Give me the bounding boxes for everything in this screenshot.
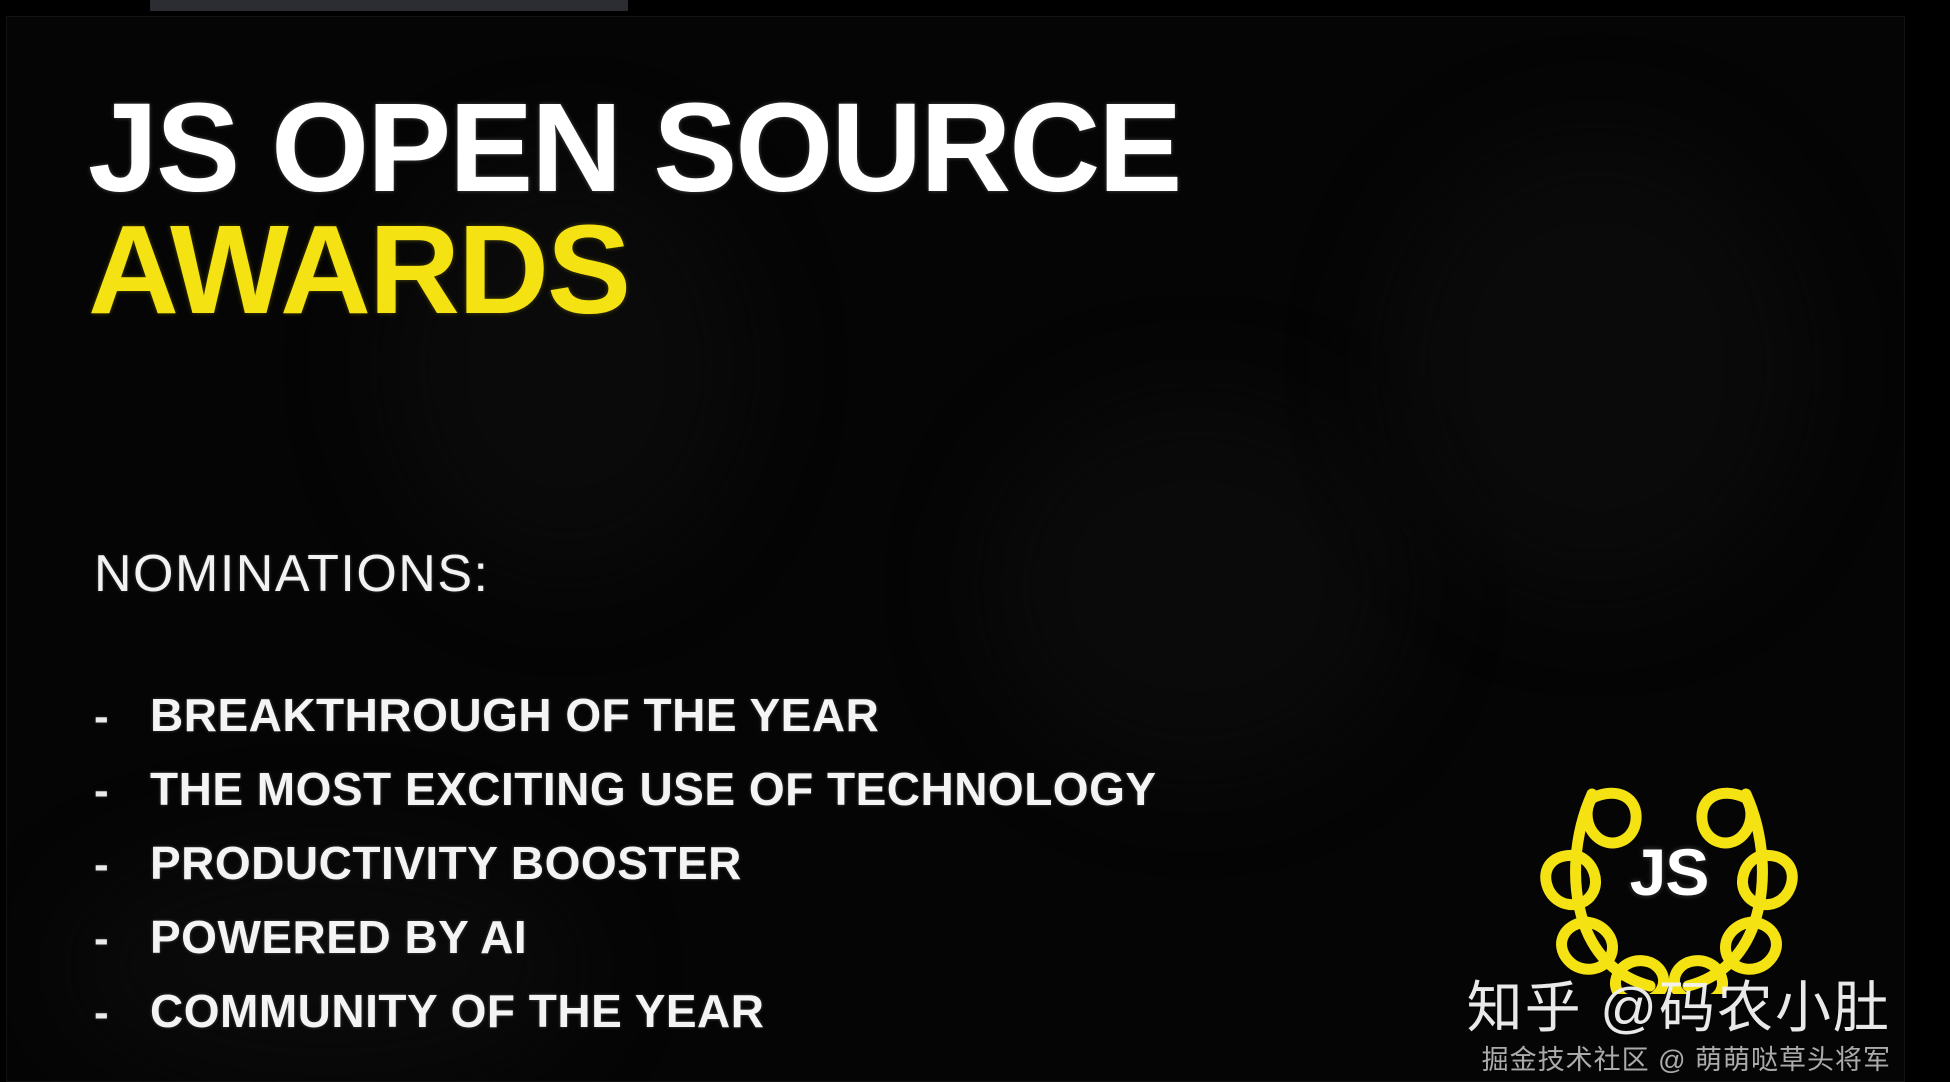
nomination-label: POWERED BY AI [150, 910, 527, 964]
presentation-slide: JS OPEN SOURCE AWARDS NOMINATIONS: - BRE… [6, 16, 1905, 1082]
badge-js-label: JS [1534, 834, 1804, 910]
title-line-primary: JS OPEN SOURCE [88, 94, 1868, 202]
nominations-list: - BREAKTHROUGH OF THE YEAR - THE MOST EX… [94, 688, 1394, 1038]
bullet-dash: - [94, 692, 150, 742]
nomination-label: BREAKTHROUGH OF THE YEAR [150, 688, 879, 742]
video-progress-bar[interactable] [150, 0, 628, 11]
bullet-dash: - [94, 840, 150, 890]
list-item: - POWERED BY AI [94, 910, 1394, 964]
nomination-label: THE MOST EXCITING USE OF TECHNOLOGY [150, 762, 1157, 816]
slide-title: JS OPEN SOURCE AWARDS [88, 94, 1868, 325]
bullet-dash: - [94, 766, 150, 816]
watermark-secondary: 掘金技术社区 @ 萌萌哒草头将军 [1467, 1044, 1891, 1076]
list-item: - PRODUCTIVITY BOOSTER [94, 836, 1394, 890]
list-item: - BREAKTHROUGH OF THE YEAR [94, 688, 1394, 742]
bullet-dash: - [94, 914, 150, 964]
nomination-label: PRODUCTIVITY BOOSTER [150, 836, 742, 890]
video-viewport: JS OPEN SOURCE AWARDS NOMINATIONS: - BRE… [0, 0, 1950, 1082]
nomination-label: COMMUNITY OF THE YEAR [150, 984, 765, 1038]
list-item: - COMMUNITY OF THE YEAR [94, 984, 1394, 1038]
nominations-heading: NOMINATIONS: [94, 544, 1394, 604]
list-item: - THE MOST EXCITING USE OF TECHNOLOGY [94, 762, 1394, 816]
js-awards-badge: JS [1534, 772, 1804, 994]
nominations-section: NOMINATIONS: - BREAKTHROUGH OF THE YEAR … [94, 544, 1394, 1058]
bullet-dash: - [94, 988, 150, 1038]
title-line-accent: AWARDS [88, 216, 1868, 324]
